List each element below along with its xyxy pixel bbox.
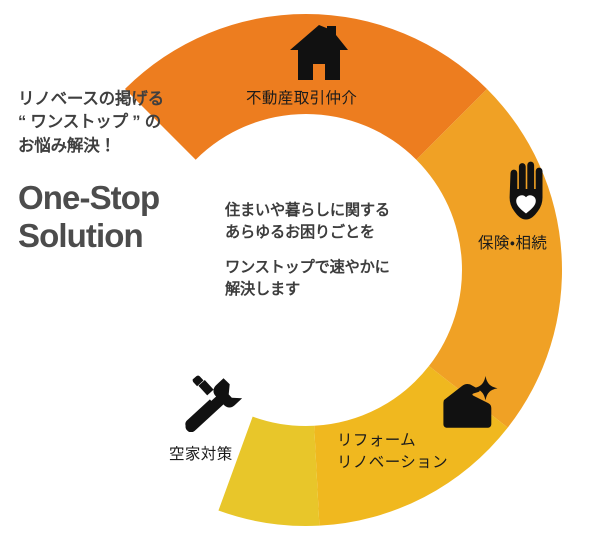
segment-label-vacant-house: 空家対策 [169, 444, 233, 466]
headline-line-2: Solution [18, 217, 233, 255]
segment-label-line: リフォーム [337, 430, 448, 452]
headline-line-1: One-Stop [18, 179, 233, 217]
page-title: One-Stop Solution [18, 179, 233, 255]
center-text-block: 住まいや暮らしに関する あらゆるお困りごとを ワンストップで速やかに 解決します [225, 200, 440, 301]
segment-label-line: 空家対策 [169, 446, 233, 463]
left-text-block: リノベースの掲げる “ ワンストップ ” の お悩み解決！ One-Stop S… [18, 88, 233, 255]
segment-label-line: 保険・相続 [478, 235, 547, 252]
segment-label-line: 不動産取引仲介 [246, 90, 357, 107]
center-line-2: あらゆるお困りごとを [225, 222, 440, 244]
center-line-1: 住まいや暮らしに関する [225, 200, 440, 222]
segment-label-insurance-inheritance: 保険・相続 [478, 233, 547, 255]
lead-line-1: リノベースの掲げる [18, 88, 233, 111]
hand-heart-icon [503, 160, 549, 222]
segment-label-reform-renovation: リフォーム リノベーション [337, 430, 448, 474]
infographic-canvas: 不動産取引仲介 保険・相続 リフォーム リノベーション 空家対策 リノベースの掲… [0, 0, 600, 533]
center-line-4: 解決します [225, 279, 440, 301]
center-paragraph-2: ワンストップで速やかに 解決します [225, 257, 440, 302]
lead-line-3: お悩み解決！ [18, 135, 233, 158]
center-line-3: ワンストップで速やかに [225, 257, 440, 279]
lead-line-2: “ ワンストップ ” の [18, 111, 233, 134]
donut-segment-vacant-house[interactable] [218, 417, 319, 526]
segment-label-real-estate: 不動産取引仲介 [246, 88, 357, 110]
tools-icon [180, 374, 242, 432]
segment-label-line: リノベーション [337, 452, 448, 474]
house-icon [288, 24, 350, 82]
house-sparkle-icon [438, 376, 500, 432]
center-paragraph-1: 住まいや暮らしに関する あらゆるお困りごとを [225, 200, 440, 245]
